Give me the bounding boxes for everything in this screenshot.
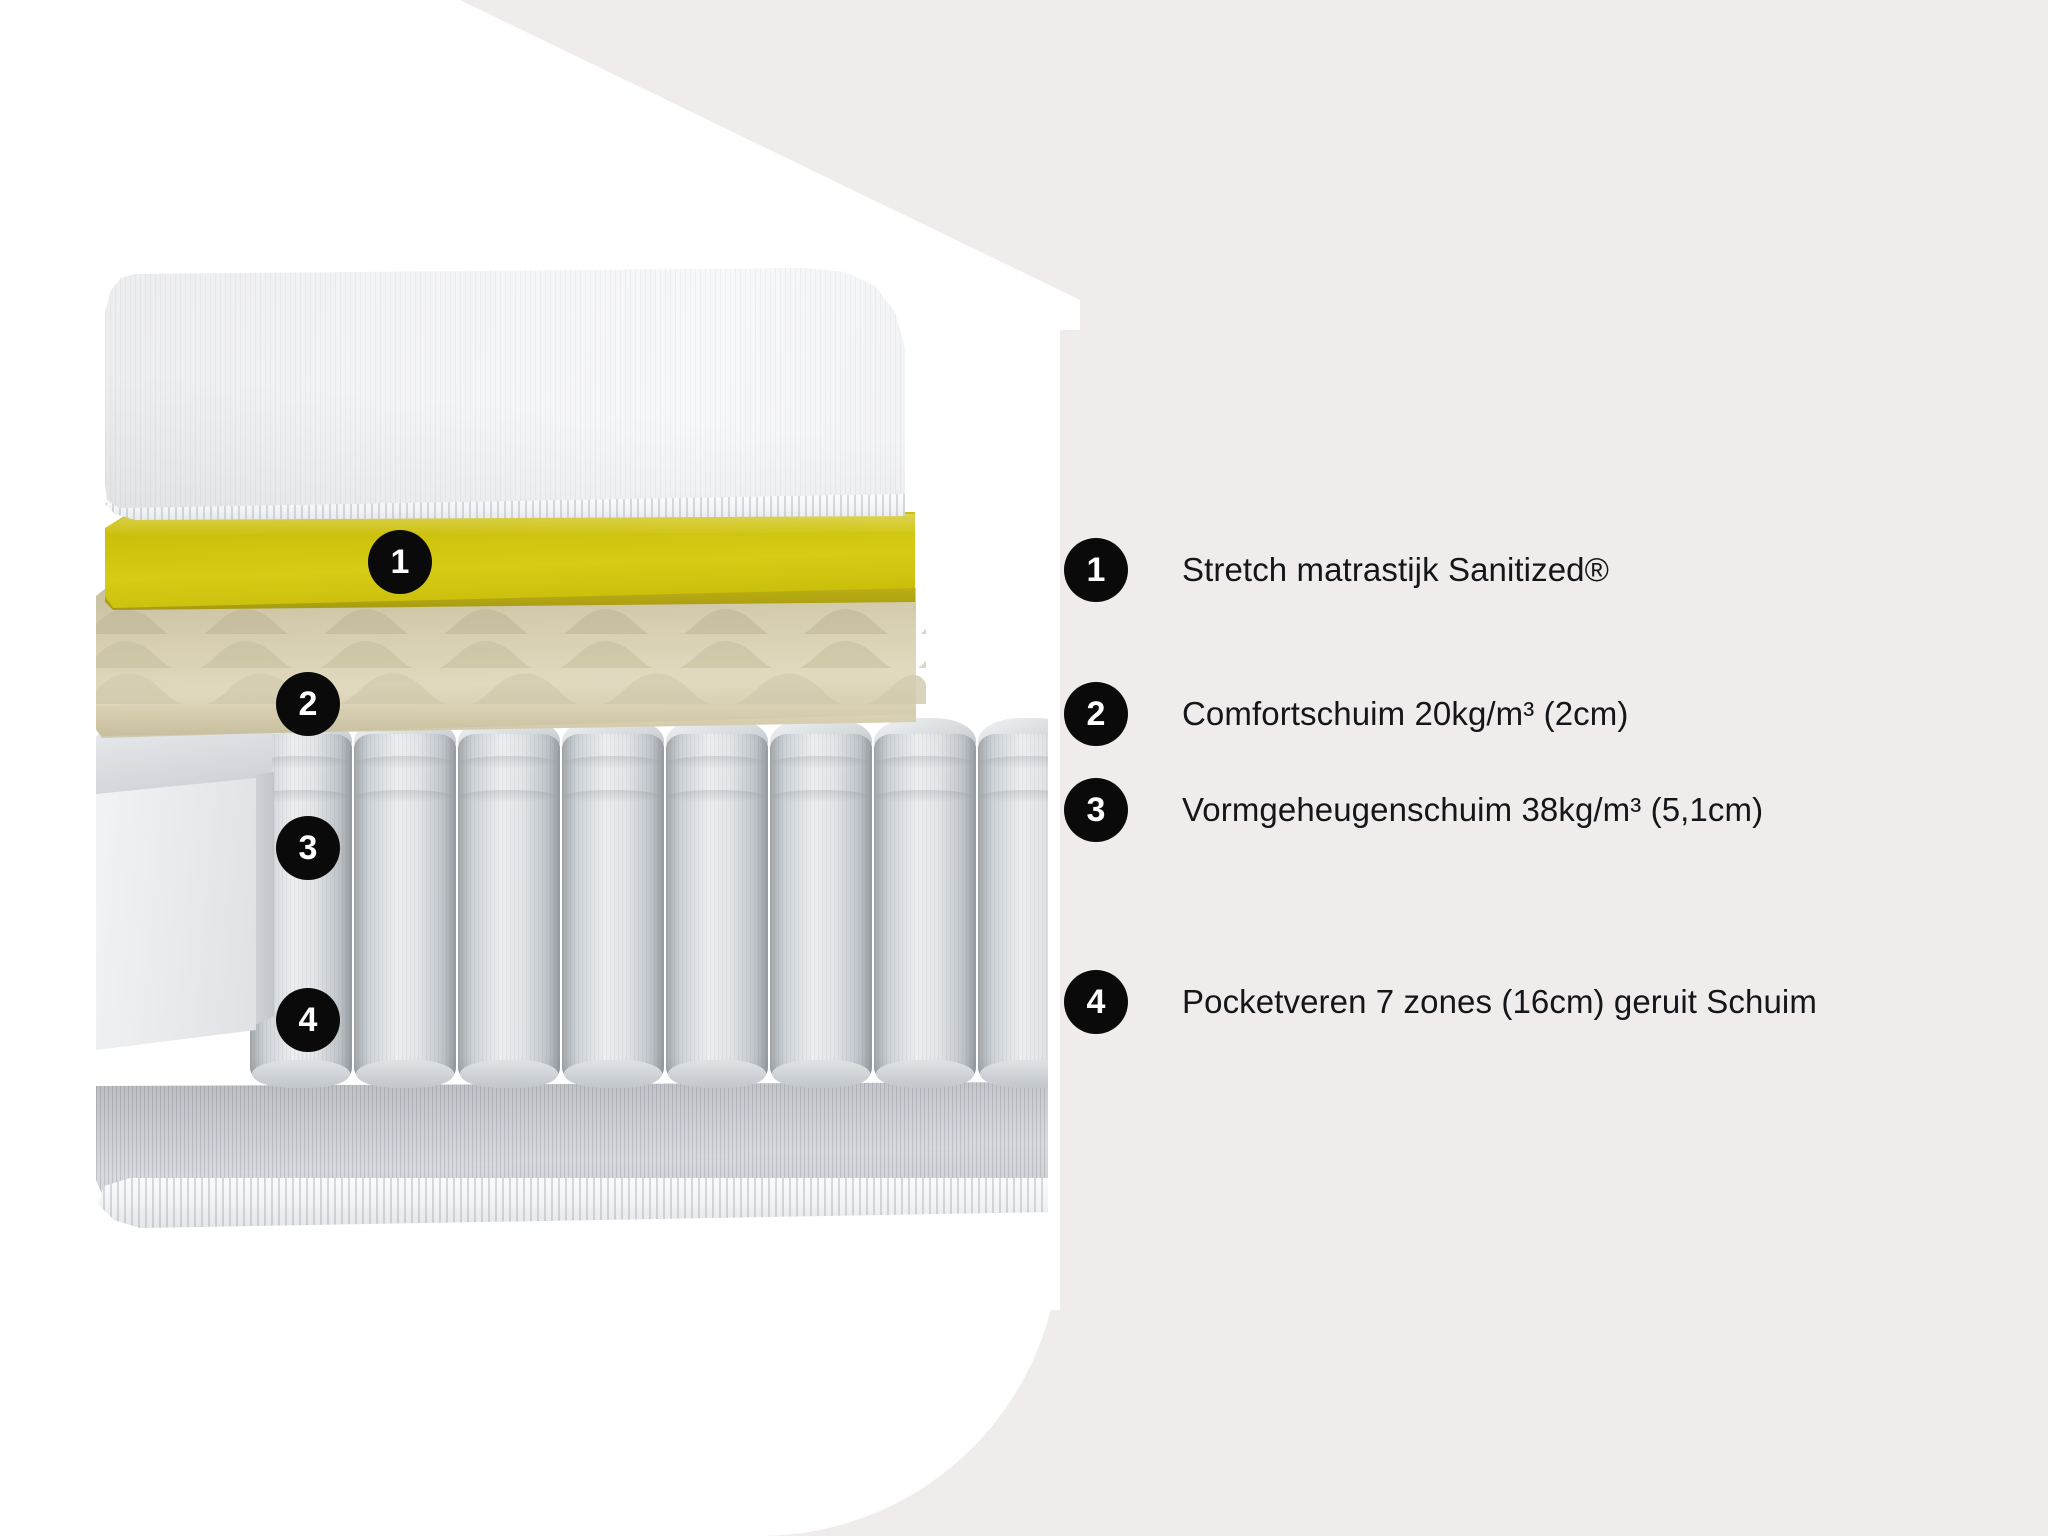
pocket-spring — [662, 712, 772, 1104]
spring-ring — [460, 790, 558, 804]
legend-badge-2[interactable]: 2 — [1064, 682, 1128, 746]
legend-label-3: Vormgeheugenschuim 38kg/m³ (5,1cm) — [1182, 791, 1763, 829]
pocket-spring — [558, 712, 668, 1104]
spring-foot — [460, 1060, 558, 1088]
pocket-spring — [974, 712, 1048, 1104]
pocket-spring — [766, 712, 876, 1104]
spring-ring — [356, 790, 454, 804]
pocket-spring — [454, 712, 564, 1104]
layer-2-comfort-foam — [105, 512, 1048, 632]
pocket-spring — [870, 712, 980, 1104]
spring-ring — [460, 756, 558, 770]
legend-item-3[interactable]: 3 Vormgeheugenschuim 38kg/m³ (5,1cm) — [1064, 778, 2004, 842]
base-piping-edge — [96, 1178, 1048, 1228]
legend-badge-4-number: 4 — [1087, 985, 1106, 1019]
cover-shading — [105, 268, 905, 508]
legend-item-1[interactable]: 1 Stretch matrastijk Sanitized® — [1064, 538, 2004, 602]
memory-foam-shading — [96, 684, 916, 740]
layer-1-stretch-cover — [105, 268, 1048, 518]
edge-support-foam-block — [96, 722, 272, 1072]
spring-ring — [668, 756, 766, 770]
spring-foot — [980, 1060, 1048, 1088]
spring-barrel — [874, 734, 976, 1082]
image-badge-3[interactable]: 3 — [276, 816, 340, 880]
image-badge-4[interactable]: 4 — [276, 988, 340, 1052]
layer-4-pocket-springs — [96, 712, 1048, 1132]
spring-foot — [772, 1060, 870, 1088]
spring-ring — [772, 756, 870, 770]
spring-barrel — [562, 734, 664, 1082]
legend-item-4[interactable]: 4 Pocketveren 7 zones (16cm) geruit Schu… — [1064, 970, 2004, 1034]
eggcrate-wave-row — [96, 628, 926, 668]
legend-badge-1-number: 1 — [1087, 553, 1106, 587]
layer-legend-list: 1 Stretch matrastijk Sanitized® 2 Comfor… — [1064, 250, 2004, 1310]
pocket-spring — [350, 712, 460, 1104]
legend-label-4: Pocketveren 7 zones (16cm) geruit Schuim — [1182, 983, 1817, 1021]
legend-badge-3-number: 3 — [1087, 793, 1106, 827]
image-badge-1-number: 1 — [391, 545, 410, 579]
spring-barrel — [978, 734, 1048, 1082]
spring-ring — [564, 790, 662, 804]
spring-ring — [564, 756, 662, 770]
spring-ring — [356, 756, 454, 770]
image-badge-4-number: 4 — [299, 1003, 318, 1037]
mattress-layers-infographic: 1 2 3 4 1 Stretch matrastijk Sanitized® … — [0, 0, 2048, 1536]
spring-barrel — [458, 734, 560, 1082]
spring-ring — [772, 790, 870, 804]
image-badge-2[interactable]: 2 — [276, 672, 340, 736]
pocket-spring-row — [246, 712, 1048, 1104]
spring-ring — [668, 790, 766, 804]
spring-barrel — [770, 734, 872, 1082]
legend-badge-1[interactable]: 1 — [1064, 538, 1128, 602]
image-badge-1[interactable]: 1 — [368, 530, 432, 594]
spring-foot — [356, 1060, 454, 1088]
mattress-cutaway-illustration: 1 2 3 4 — [0, 250, 1048, 1310]
legend-item-2[interactable]: 2 Comfortschuim 20kg/m³ (2cm) — [1064, 682, 2004, 746]
spring-foot — [876, 1060, 974, 1088]
legend-label-2: Comfortschuim 20kg/m³ (2cm) — [1182, 695, 1628, 733]
image-badge-2-number: 2 — [299, 687, 318, 721]
spring-barrel — [354, 734, 456, 1082]
spring-ring — [876, 756, 974, 770]
legend-badge-2-number: 2 — [1087, 697, 1106, 731]
spring-ring — [876, 790, 974, 804]
image-badge-3-number: 3 — [299, 831, 318, 865]
legend-label-1: Stretch matrastijk Sanitized® — [1182, 551, 1609, 589]
legend-badge-3[interactable]: 3 — [1064, 778, 1128, 842]
spring-barrel — [666, 734, 768, 1082]
legend-badge-4[interactable]: 4 — [1064, 970, 1128, 1034]
spring-foot — [564, 1060, 662, 1088]
spring-foot — [668, 1060, 766, 1088]
edge-block-front-face — [96, 778, 256, 1050]
